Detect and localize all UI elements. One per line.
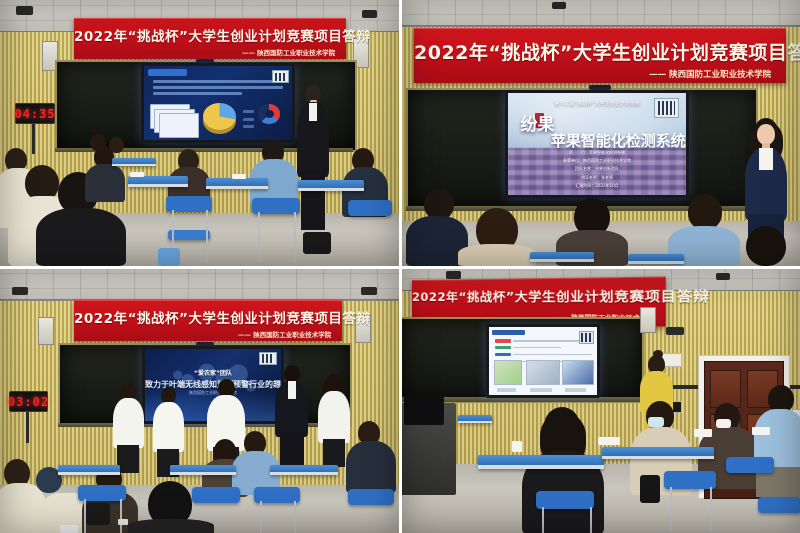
ceiling-lamp-left — [12, 287, 28, 295]
display-screen — [486, 324, 600, 398]
audience-head — [109, 137, 124, 153]
slide-photo — [562, 360, 593, 385]
student-shirt — [288, 381, 296, 399]
door-panel — [710, 370, 740, 407]
ceiling — [0, 269, 399, 303]
slide-header-bar — [492, 330, 524, 335]
ceiling-lamp — [446, 271, 461, 279]
banner-main-text: 2022年“挑战杯”大学生创业计划竞赛项目答辩 — [414, 38, 786, 65]
desk-paper — [232, 174, 246, 179]
slide-corner-image — [579, 331, 594, 344]
panel-bottom-right: 2022年“挑战杯”大学生创业计划竞赛项目答辩 —— 陕西国防工业职业技术学院 — [402, 269, 800, 533]
panel-top-left: 2022年“挑战杯”大学生创业计划竞赛项目答辩 —— 陕西国防工业职业技术学院 — [0, 0, 399, 266]
audience-head — [90, 134, 106, 151]
wall-notice — [662, 353, 682, 367]
desk-edge — [206, 186, 268, 189]
banner-main-text: 2022年“挑战杯”大学生创业计划竞赛项目答辩 — [412, 286, 666, 305]
student-legs — [117, 445, 139, 473]
clock-post — [32, 120, 35, 154]
desk-paper — [694, 429, 712, 437]
slide-doc-card-3 — [159, 113, 199, 137]
slide-header-bar — [148, 69, 186, 76]
led-clock-digits: 04:35 — [14, 107, 55, 121]
slide-meta-2: 参赛单位：陕西国防工业职业技术学院 — [508, 158, 686, 164]
desk-paper — [598, 437, 620, 445]
audience-mask — [648, 417, 664, 427]
desk-paper — [752, 427, 770, 435]
audience-body — [36, 208, 126, 266]
wall-speaker-left — [38, 317, 54, 345]
desk-edge — [628, 261, 684, 264]
wall-projector-mount — [666, 327, 684, 335]
slide-business — [144, 66, 292, 140]
panel-top-right: 2022年“挑战杯”大学生创业计划竞赛项目答辩 —— 陕西国防工业职业技术学院 … — [402, 0, 800, 266]
wall-speaker — [640, 307, 656, 333]
audience-body — [0, 483, 46, 533]
desk-edge — [112, 164, 156, 166]
chair-seat — [168, 230, 210, 240]
slide-caption — [530, 388, 552, 391]
pie-chart — [203, 103, 236, 130]
audience-body — [85, 164, 125, 202]
slide-bullet-2 — [153, 86, 283, 89]
audience-body — [128, 519, 214, 533]
ceiling-lamp — [552, 2, 566, 9]
desk — [112, 158, 156, 166]
slide-bullet-3 — [153, 92, 242, 95]
desk — [458, 415, 492, 423]
desk — [298, 180, 364, 191]
audience-mask — [716, 419, 731, 428]
slide-bullet-1 — [153, 80, 280, 83]
chair-back — [726, 457, 774, 473]
trash-bin — [158, 248, 180, 266]
led-clock: 04:35 — [15, 103, 55, 124]
chair-leg — [294, 212, 296, 262]
panel-bottom-left: 2022年“挑战杯”大学生创业计划竞赛项目答辩 —— 陕西国防工业职业技术学院 … — [0, 269, 399, 533]
presenter-shirt-opening — [309, 103, 317, 121]
slide-legend-2 — [243, 118, 253, 121]
desk-edge — [602, 456, 714, 459]
desk-edge — [58, 472, 120, 475]
chair-back — [348, 200, 392, 216]
bullet-tag — [495, 353, 510, 356]
desk-paper — [130, 172, 144, 177]
desk-edge — [128, 184, 188, 187]
banner-sub-text: —— 陕西国防工业职业技术学院 — [242, 47, 335, 57]
desk-edge — [530, 259, 594, 262]
chair-leg — [206, 210, 208, 262]
desk — [270, 465, 338, 475]
audience-head — [688, 194, 722, 230]
ceiling-lamp-left — [16, 6, 33, 15]
slide-bullet-row — [495, 353, 591, 356]
banner-main-text: 2022年“挑战杯”大学生创业计划竞赛项目答辩 — [74, 25, 346, 45]
desk — [58, 465, 120, 475]
slide-corner-image — [654, 98, 679, 118]
slide-photo — [494, 360, 522, 385]
chair-leg — [294, 501, 296, 533]
ceiling-lamp-right — [361, 287, 377, 295]
photo-collage: 2022年“挑战杯”大学生创业计划竞赛项目答辩 —— 陕西国防工业职业技术学院 — [0, 0, 800, 533]
tea-cup — [512, 441, 522, 452]
slide-apple-poster: 第十三届“挑战杯”大学生创业计划竞赛 纷果 苹果智能化检测系统 项 目：苹果智能… — [508, 93, 686, 195]
phone-in-hand — [118, 519, 128, 525]
desk-edge — [270, 472, 338, 475]
desk — [602, 447, 714, 459]
slide-corner-image — [259, 352, 277, 366]
event-banner: 2022年“挑战杯”大学生创业计划竞赛项目答辩 —— 陕西国防工业职业技术学院 — [414, 28, 786, 83]
slide-meta-5: 汇报时间：2022年10月 — [508, 183, 686, 189]
desk — [128, 176, 188, 187]
donut-chart — [258, 104, 280, 123]
presenter-blouse — [759, 148, 773, 170]
student-body — [113, 398, 144, 448]
desk-edge — [478, 465, 604, 469]
slide-meta-4: 指导老师：张老师 — [508, 175, 686, 181]
chair-leg — [260, 501, 262, 533]
display-screen — [141, 63, 295, 143]
slide-corner-image — [272, 70, 289, 82]
slide-caption — [497, 388, 516, 391]
chair-leg — [590, 507, 592, 533]
slide-brand: 纷果 — [520, 117, 554, 135]
student-legs — [323, 439, 345, 467]
banner-main-text: 2022年“挑战杯”大学生创业计划竞赛项目答辩 — [74, 307, 342, 327]
presenter-legs — [301, 170, 325, 230]
desk — [206, 178, 268, 189]
audience-body — [458, 244, 536, 266]
audience-head — [746, 226, 786, 266]
slide-legend-3 — [243, 125, 253, 128]
desk-edge — [458, 421, 492, 423]
bullet-tag — [495, 346, 510, 349]
desk — [170, 465, 236, 475]
chair-back — [348, 489, 394, 505]
slide-results — [489, 327, 597, 395]
bag-on-floor — [640, 475, 660, 503]
event-banner: 2022年“挑战杯”大学生创业计划竞赛项目答辩 —— 陕西国防工业职业技术学院 — [74, 300, 342, 341]
banner-sub-text: —— 陕西国防工业职业技术学院 — [649, 68, 771, 80]
chair-leg — [258, 212, 260, 262]
clock-post — [26, 409, 29, 443]
desk — [478, 455, 604, 469]
chair-back — [536, 491, 594, 509]
bag-on-floor — [303, 232, 331, 254]
banner-sub-text: —— 陕西国防工业职业技术学院 — [238, 329, 331, 339]
student-legs — [280, 433, 304, 467]
chair-back — [192, 487, 240, 503]
led-clock: 03:02 — [9, 391, 48, 412]
chair-leg — [120, 499, 122, 533]
bag-on-floor — [86, 503, 110, 525]
led-clock-digits: 03:02 — [8, 395, 49, 409]
slide-bullet-row — [495, 339, 591, 342]
chair-leg — [710, 487, 712, 531]
audience-body — [346, 441, 396, 493]
slide-bullet-row — [495, 346, 591, 349]
ceiling-lamp-right — [716, 273, 730, 280]
desk-edge — [170, 472, 236, 475]
student-body — [153, 402, 184, 452]
desk — [530, 252, 594, 262]
chair-back — [758, 497, 800, 513]
display-screen: 第十三届“挑战杯”大学生创业计划竞赛 纷果 苹果智能化检测系统 项 目：苹果智能… — [505, 90, 689, 198]
desk — [628, 254, 684, 264]
chair-leg — [670, 487, 672, 531]
slide-legend-1 — [243, 110, 253, 113]
slide-title: 苹果智能化检测系统 — [551, 130, 686, 151]
slide-caption — [565, 388, 587, 391]
slide-meta-3: 团队名称：纷果创新团队 — [508, 166, 686, 172]
slide-meta-1: 项 目：苹果智能化检测系统 — [508, 150, 686, 156]
podium-monitor — [404, 395, 444, 425]
bullet-text — [513, 347, 561, 348]
event-banner: 2022年“挑战杯”大学生创业计划竞赛项目答辩 —— 陕西国防工业职业技术学院 — [74, 18, 346, 59]
chair-leg — [542, 507, 544, 533]
bullet-text — [513, 354, 592, 355]
desk-edge — [298, 188, 364, 191]
ceiling-lamp-right — [362, 10, 377, 18]
slide-team-name: “爱农家”团队 — [145, 368, 281, 377]
desk-paper — [60, 525, 78, 533]
student-body — [318, 391, 350, 443]
bullet-tag — [495, 339, 510, 342]
presenter-face — [757, 124, 775, 145]
presenter-bun — [653, 350, 663, 358]
slide-photo — [526, 360, 560, 385]
